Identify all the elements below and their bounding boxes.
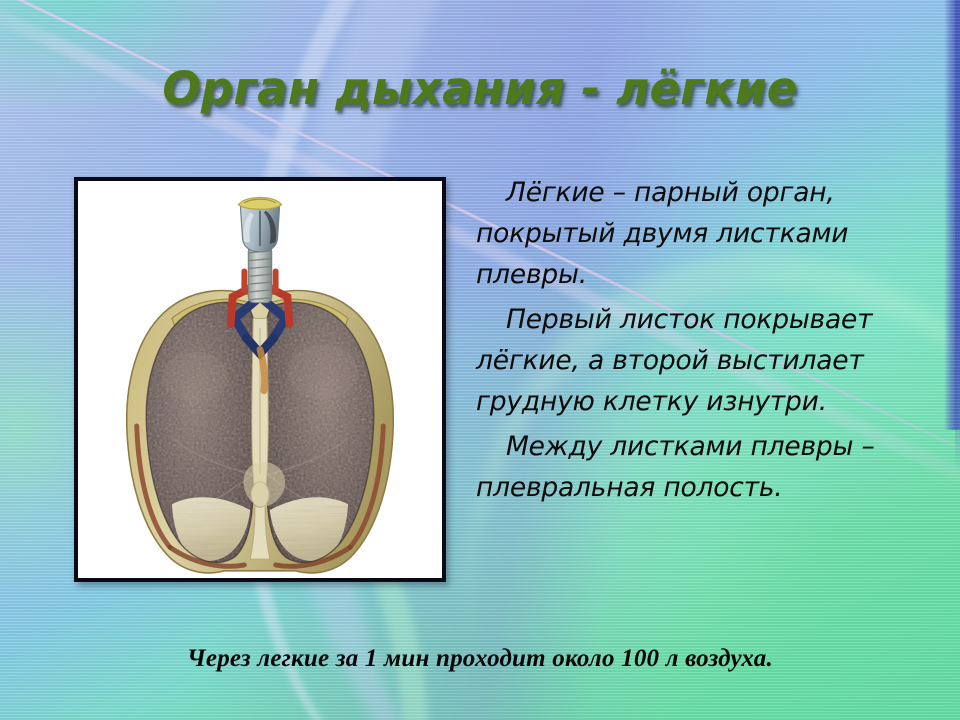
lungs-anatomy-illustration bbox=[78, 181, 442, 578]
body-paragraph-3: Между листками плевры – плевральная поло… bbox=[476, 426, 896, 508]
trachea bbox=[248, 246, 271, 303]
body-text-block: Лёгкие – парный орган, покрытый двумя ли… bbox=[476, 172, 896, 512]
body-paragraph-2: Первый листок покрывает лёгкие, а второй… bbox=[476, 299, 896, 422]
slide-title: Орган дыхания - лёгкие bbox=[0, 62, 960, 115]
lungs-image-frame bbox=[74, 177, 446, 582]
slide-caption: Через легкие за 1 мин проходит около 100… bbox=[0, 645, 960, 673]
body-paragraph-1: Лёгкие – парный орган, покрытый двумя ли… bbox=[476, 172, 896, 295]
presentation-slide: Орган дыхания - лёгкие bbox=[0, 0, 960, 720]
